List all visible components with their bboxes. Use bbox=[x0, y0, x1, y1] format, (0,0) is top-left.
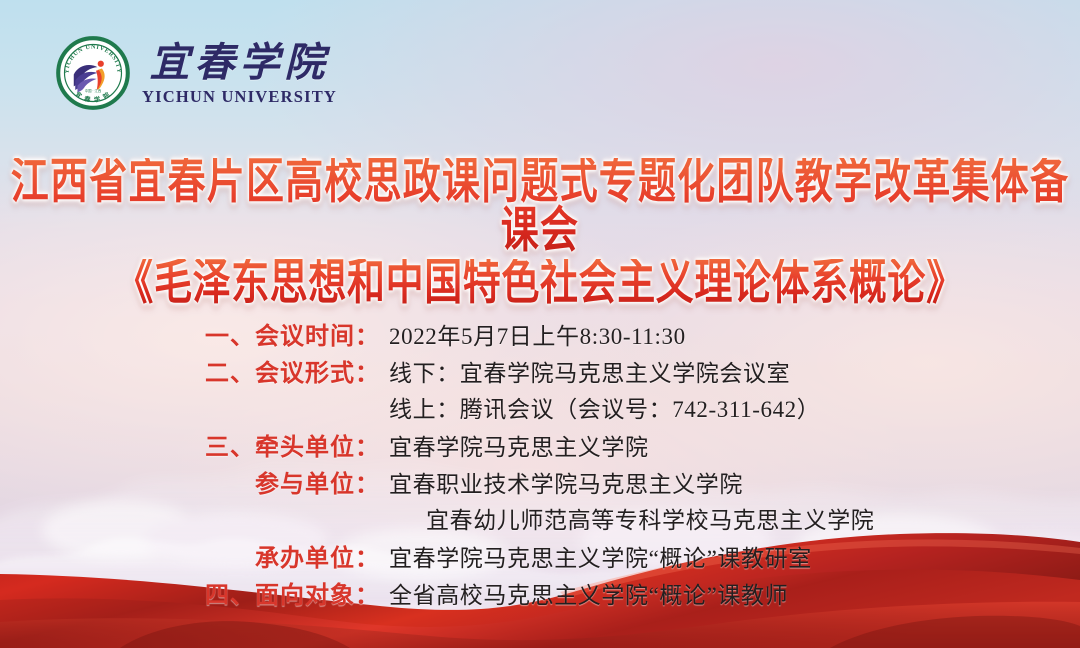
logo-name-cn: 宜春学院 bbox=[150, 42, 330, 84]
meeting-info-row: 三、牵头单位：宜春学院马克思主义学院 bbox=[190, 427, 890, 464]
meeting-info-value: 线上：腾讯会议（会议号：742-311-642） bbox=[380, 390, 890, 424]
meeting-info-label bbox=[190, 508, 380, 535]
meeting-info-value: 宜春学院马克思主义学院“概论”课教研室 bbox=[380, 539, 890, 573]
meeting-info-label: 二、会议形式： bbox=[190, 353, 380, 388]
meeting-info-value: 宜春幼儿师范高等专科学校马克思主义学院 bbox=[380, 501, 890, 535]
poster-title-block: 江西省宜春片区高校思政课问题式专题化团队教学改革集体备课会 《毛泽东思想和中国特… bbox=[0, 158, 1080, 297]
meeting-info-label: 四、面向对象： bbox=[190, 575, 380, 610]
meeting-info-block: 一、会议时间：2022年5月7日上午8:30-11:30二、会议形式：线下：宜春… bbox=[0, 316, 1080, 612]
meeting-info-label: 三、牵头单位： bbox=[190, 427, 380, 462]
university-logo: YICHUN UNIVERSITY 宜 春 学 院 中国 · 江西 宜春学院 Y… bbox=[56, 36, 337, 110]
meeting-info-row: 宜春幼儿师范高等专科学校马克思主义学院 bbox=[190, 501, 890, 538]
poster-canvas: YICHUN UNIVERSITY 宜 春 学 院 中国 · 江西 宜春学院 Y… bbox=[0, 0, 1080, 648]
page-subtitle: 《毛泽东思想和中国特色社会主义理论体系概论》 bbox=[0, 259, 1080, 308]
meeting-info-row: 二、会议形式：线下：宜春学院马克思主义学院会议室 bbox=[190, 353, 890, 390]
logo-name-en: YICHUN UNIVERSITY bbox=[142, 87, 337, 107]
meeting-info-row: 一、会议时间：2022年5月7日上午8:30-11:30 bbox=[190, 316, 890, 353]
meeting-info-label: 承办单位： bbox=[190, 538, 380, 573]
meeting-info-value: 2022年5月7日上午8:30-11:30 bbox=[380, 317, 890, 351]
meeting-info-label bbox=[190, 397, 380, 424]
meeting-info-row: 四、面向对象：全省高校马克思主义学院“概论”课教师 bbox=[190, 575, 890, 612]
meeting-info-row: 参与单位：宜春职业技术学院马克思主义学院 bbox=[190, 464, 890, 501]
meeting-info-value: 宜春学院马克思主义学院 bbox=[380, 428, 890, 462]
yichun-university-emblem-icon: YICHUN UNIVERSITY 宜 春 学 院 中国 · 江西 bbox=[56, 36, 130, 110]
meeting-info-row: 承办单位：宜春学院马克思主义学院“概论”课教研室 bbox=[190, 538, 890, 575]
meeting-info-value: 全省高校马克思主义学院“概论”课教师 bbox=[380, 576, 890, 610]
page-title: 江西省宜春片区高校思政课问题式专题化团队教学改革集体备课会 bbox=[0, 158, 1080, 255]
meeting-info-label: 参与单位： bbox=[190, 464, 380, 499]
meeting-info-value: 宜春职业技术学院马克思主义学院 bbox=[380, 465, 890, 499]
meeting-info-row: 线上：腾讯会议（会议号：742-311-642） bbox=[190, 390, 890, 427]
svg-text:中国 · 江西: 中国 · 江西 bbox=[85, 88, 102, 93]
meeting-info-value: 线下：宜春学院马克思主义学院会议室 bbox=[380, 354, 890, 388]
meeting-info-label: 一、会议时间： bbox=[190, 316, 380, 351]
